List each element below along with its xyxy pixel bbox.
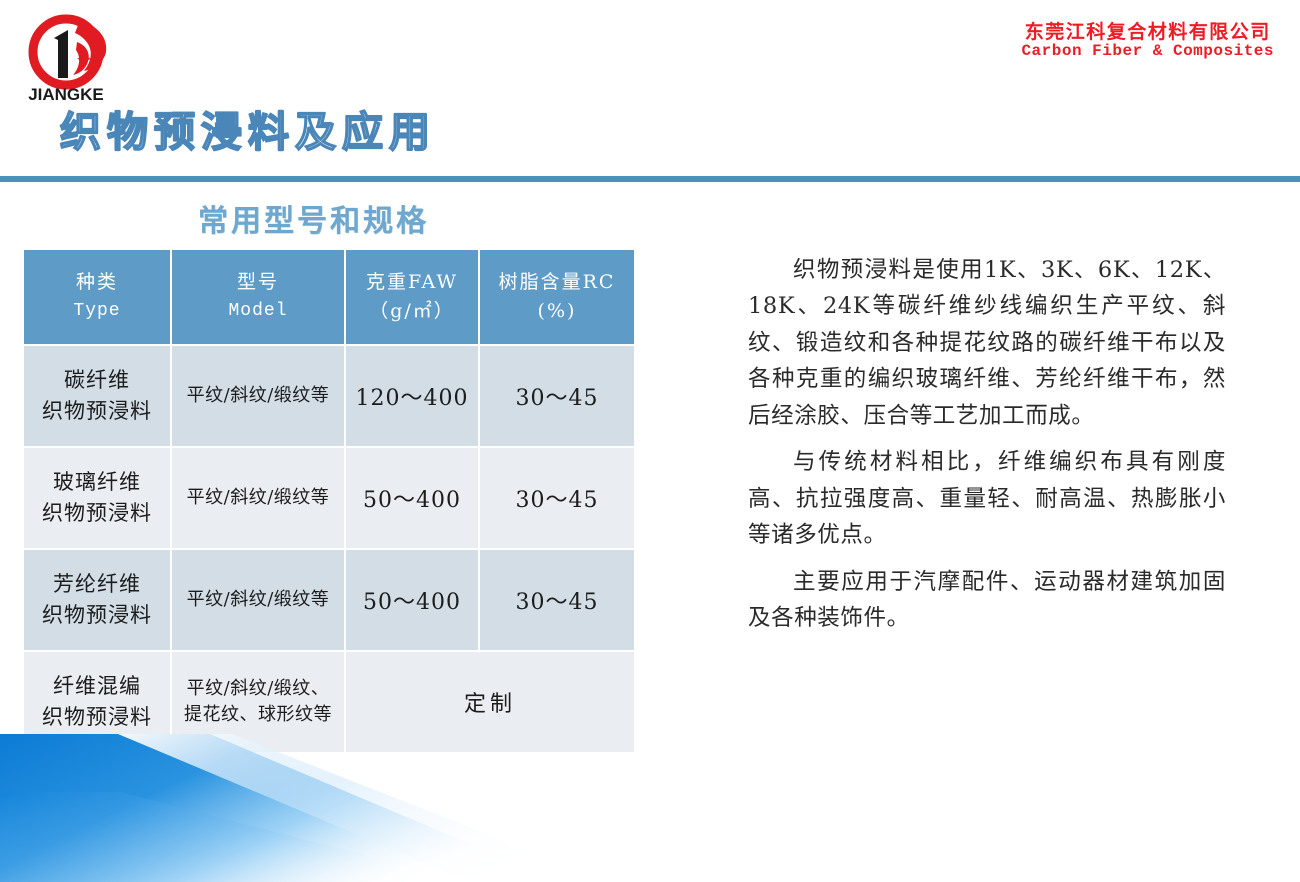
- table-row: 碳纤维织物预浸料 平纹/斜纹/缎纹等 120～400 30～45: [24, 346, 634, 446]
- cell-rc: 30～45: [480, 448, 634, 548]
- spec-table: 种类 Type 型号 Model 克重FAW （g/㎡） 树脂含量RC (%): [22, 248, 636, 754]
- table-row: 纤维混编织物预浸料 平纹/斜纹/缎纹、提花纹、球形纹等 定制: [24, 652, 634, 752]
- paragraph-3: 主要应用于汽摩配件、运动器材建筑加固及各种装饰件。: [748, 564, 1226, 637]
- cell-faw: 50～400: [346, 550, 478, 650]
- column-header-model-cn: 型号: [176, 268, 340, 297]
- cell-faw: 120～400: [346, 346, 478, 446]
- column-header-faw-unit: （g/㎡）: [350, 297, 474, 326]
- column-header-rc-unit: (%): [484, 297, 630, 326]
- company-logo: JIANGKE: [22, 12, 130, 104]
- column-header-faw: 克重FAW （g/㎡）: [346, 250, 478, 344]
- jiangke-logo-icon: JIANGKE: [22, 12, 130, 104]
- column-header-type-cn: 种类: [28, 268, 166, 297]
- column-header-model-en: Model: [176, 298, 340, 326]
- company-name-en: Carbon Fiber & Composites: [1021, 43, 1274, 61]
- cell-type: 碳纤维织物预浸料: [24, 346, 170, 446]
- cell-type: 玻璃纤维织物预浸料: [24, 448, 170, 548]
- section-heading: 常用型号和规格: [198, 196, 429, 240]
- column-header-faw-cn: 克重FAW: [350, 268, 474, 297]
- cell-model: 平纹/斜纹/缎纹等: [172, 346, 344, 446]
- cell-model: 平纹/斜纹/缎纹等: [172, 550, 344, 650]
- table-header-row: 种类 Type 型号 Model 克重FAW （g/㎡） 树脂含量RC (%): [24, 250, 634, 344]
- cell-faw: 50～400: [346, 448, 478, 548]
- cell-type: 纤维混编织物预浸料: [24, 652, 170, 752]
- paragraph-2: 与传统材料相比，纤维编织布具有刚度高、抗拉强度高、重量轻、耐高温、热膨胀小等诸多…: [748, 444, 1226, 553]
- cell-model: 平纹/斜纹/缎纹等: [172, 448, 344, 548]
- column-header-type-en: Type: [28, 298, 166, 326]
- column-header-rc: 树脂含量RC (%): [480, 250, 634, 344]
- table-row: 芳纶纤维织物预浸料 平纹/斜纹/缎纹等 50～400 30～45: [24, 550, 634, 650]
- page-title: 织物预浸料及应用: [60, 98, 436, 158]
- cell-rc: 30～45: [480, 346, 634, 446]
- table-row: 玻璃纤维织物预浸料 平纹/斜纹/缎纹等 50～400 30～45: [24, 448, 634, 548]
- header-divider: [0, 176, 1300, 182]
- paragraph-1: 织物预浸料是使用1K、3K、6K、12K、18K、24K等碳纤维纱线编织生产平纹…: [748, 252, 1226, 434]
- body-copy: 织物预浸料是使用1K、3K、6K、12K、18K、24K等碳纤维纱线编织生产平纹…: [748, 252, 1226, 646]
- cell-model: 平纹/斜纹/缎纹、提花纹、球形纹等: [172, 652, 344, 752]
- cell-custom: 定制: [346, 652, 634, 752]
- column-header-type: 种类 Type: [24, 250, 170, 344]
- column-header-model: 型号 Model: [172, 250, 344, 344]
- company-name-block: 东莞江科复合材料有限公司 Carbon Fiber & Composites: [1021, 22, 1274, 61]
- slide-canvas: JIANGKE 东莞江科复合材料有限公司 Carbon Fiber & Comp…: [0, 0, 1300, 882]
- cell-rc: 30～45: [480, 550, 634, 650]
- company-name-cn: 东莞江科复合材料有限公司: [1021, 22, 1274, 43]
- cell-type: 芳纶纤维织物预浸料: [24, 550, 170, 650]
- column-header-rc-cn: 树脂含量RC: [484, 268, 630, 297]
